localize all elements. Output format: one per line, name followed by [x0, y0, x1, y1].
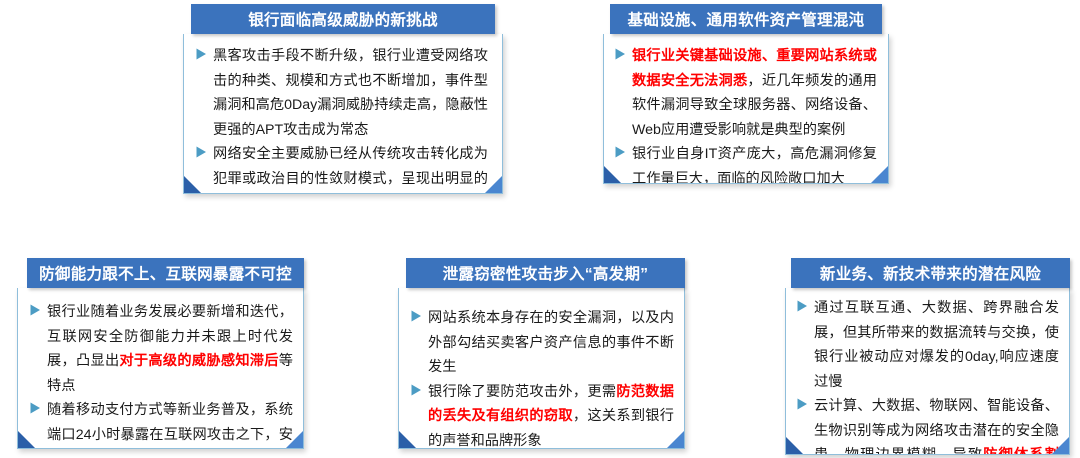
card-title-new-business-tech-risks: 新业务、新技术带来的潜在风险 — [791, 258, 1070, 288]
card-new-business-tech-risks: 新业务、新技术带来的潜在风险 通过互联互通、大数据、跨界融合发展，但其所带来的数… — [785, 258, 1070, 455]
right-arrow-icon — [196, 146, 208, 160]
bullet-text: 银行除了要防范攻击外，更需防范数据的丢失及有组织的窃取，这关系到银行的声誉和品牌… — [428, 384, 674, 449]
bullet-text: 随着移动支付方式等新业务普及，系统端口24小时暴露在互联网攻击之下，安全威胁在不… — [47, 402, 293, 449]
card-defense-internet-exposure: 防御能力跟不上、互联网暴露不可控 银行业随着业务发展必要新增和迭代，互联网安全防… — [17, 258, 304, 449]
list-item: 黑客攻击手段不断升级，银行业遭受网络攻击的种类、规模和方式也不断增加，事件型漏洞… — [196, 44, 488, 142]
corner-accent-bottom-left — [399, 431, 416, 448]
list-item: 银行业关键基础设施、重要网站系统或数据安全无法洞悉，近几年频发的通用软件漏洞导致… — [615, 44, 877, 142]
corner-accent-bottom-left — [184, 176, 201, 193]
corner-accent-bottom-right — [667, 431, 684, 448]
corner-accent-bottom-right — [485, 176, 502, 193]
corner-accent-bottom-left — [786, 437, 803, 454]
card-title-leak-espionage-attacks: 泄露窃密性攻击步入“高发期” — [406, 258, 685, 288]
right-arrow-icon — [411, 384, 423, 398]
right-arrow-icon — [797, 300, 809, 314]
card-infrastructure-asset-chaos: 基础设施、通用软件资产管理混沌 银行业关键基础设施、重要网站系统或数据安全无法洞… — [603, 4, 889, 184]
corner-accent-bottom-left — [18, 431, 35, 448]
card-body-new-business-tech-risks: 通过互联互通、大数据、跨界融合发展，但其所带来的数据流转与交换，使银行业被动应对… — [785, 288, 1070, 455]
right-arrow-icon — [797, 398, 809, 412]
right-arrow-icon — [615, 48, 627, 62]
corner-accent-bottom-right — [1052, 437, 1069, 454]
list-item: 随着移动支付方式等新业务普及，系统端口24小时暴露在互联网攻击之下，安全威胁在不… — [30, 398, 293, 449]
bullet-list: 银行业随着业务发展必要新增和迭代，互联网安全防御能力并未跟上时代发展，凸显出对于… — [30, 300, 293, 449]
right-arrow-icon — [411, 310, 423, 324]
bullet-list: 网站系统本身存在的安全漏洞，以及内外部勾结买卖客户资产信息的事件不断发生 银行除… — [411, 306, 674, 449]
corner-accent-bottom-left — [604, 166, 621, 183]
bullet-list: 通过互联互通、大数据、跨界融合发展，但其所带来的数据流转与交换，使银行业被动应对… — [797, 296, 1059, 455]
right-arrow-icon — [30, 402, 42, 416]
bullet-text: 云计算、大数据、物联网、智能设备、生物识别等成为网络攻击潜在的安全隐患，物理边界… — [814, 398, 1059, 455]
bullet-text: 银行业随着业务发展必要新增和迭代，互联网安全防御能力并未跟上时代发展，凸显出对于… — [47, 304, 293, 394]
card-body-bank-advanced-threats: 黑客攻击手段不断升级，银行业遭受网络攻击的种类、规模和方式也不断增加，事件型漏洞… — [183, 34, 503, 194]
card-body-infrastructure-asset-chaos: 银行业关键基础设施、重要网站系统或数据安全无法洞悉，近几年频发的通用软件漏洞导致… — [603, 34, 889, 184]
list-item: 网站系统本身存在的安全漏洞，以及内外部勾结买卖客户资产信息的事件不断发生 — [411, 306, 674, 380]
card-title-bank-advanced-threats: 银行面临高级威胁的新挑战 — [191, 4, 495, 34]
card-title-defense-internet-exposure: 防御能力跟不上、互联网暴露不可控 — [27, 258, 304, 288]
bullet-text: 银行业关键基础设施、重要网站系统或数据安全无法洞悉，近几年频发的通用软件漏洞导致… — [632, 48, 877, 138]
bullet-text: 网络安全主要威胁已经从传统攻击转化成为犯罪或政治目的性敛财模式，呈现出明显的规模… — [213, 146, 488, 194]
bullet-list: 黑客攻击手段不断升级，银行业遭受网络攻击的种类、规模和方式也不断增加，事件型漏洞… — [196, 44, 488, 194]
list-item: 网络安全主要威胁已经从传统攻击转化成为犯罪或政治目的性敛财模式，呈现出明显的规模… — [196, 142, 488, 194]
bullet-list: 银行业关键基础设施、重要网站系统或数据安全无法洞悉，近几年频发的通用软件漏洞导致… — [615, 44, 877, 184]
corner-accent-bottom-right — [871, 166, 888, 183]
list-item: 通过互联互通、大数据、跨界融合发展，但其所带来的数据流转与交换，使银行业被动应对… — [797, 296, 1059, 394]
highlight-text: 对于高级的威胁感知滞后 — [119, 353, 278, 369]
bullet-text: 通过互联互通、大数据、跨界融合发展，但其所带来的数据流转与交换，使银行业被动应对… — [814, 300, 1059, 390]
card-bank-advanced-threats: 银行面临高级威胁的新挑战 黑客攻击手段不断升级，银行业遭受网络攻击的种类、规模和… — [183, 4, 503, 194]
card-leak-espionage-attacks: 泄露窃密性攻击步入“高发期” 网站系统本身存在的安全漏洞，以及内外部勾结买卖客户… — [398, 258, 685, 449]
slide-board: 银行面临高级威胁的新挑战 黑客攻击手段不断升级，银行业遭受网络攻击的种类、规模和… — [0, 0, 1080, 458]
list-item: 云计算、大数据、物联网、智能设备、生物识别等成为网络攻击潜在的安全隐患，物理边界… — [797, 394, 1059, 455]
corner-accent-bottom-right — [286, 431, 303, 448]
list-item: 银行业随着业务发展必要新增和迭代，互联网安全防御能力并未跟上时代发展，凸显出对于… — [30, 300, 293, 398]
list-item: 银行除了要防范攻击外，更需防范数据的丢失及有组织的窃取，这关系到银行的声誉和品牌… — [411, 380, 674, 450]
bullet-text: 网站系统本身存在的安全漏洞，以及内外部勾结买卖客户资产信息的事件不断发生 — [428, 310, 674, 375]
card-body-leak-espionage-attacks: 网站系统本身存在的安全漏洞，以及内外部勾结买卖客户资产信息的事件不断发生 银行除… — [398, 288, 685, 449]
right-arrow-icon — [30, 304, 42, 318]
right-arrow-icon — [615, 146, 627, 160]
bullet-text: 黑客攻击手段不断升级，银行业遭受网络攻击的种类、规模和方式也不断增加，事件型漏洞… — [213, 48, 488, 138]
card-body-defense-internet-exposure: 银行业随着业务发展必要新增和迭代，互联网安全防御能力并未跟上时代发展，凸显出对于… — [17, 288, 304, 449]
card-title-infrastructure-asset-chaos: 基础设施、通用软件资产管理混沌 — [610, 4, 882, 34]
list-item: 银行业自身IT资产庞大，高危漏洞修复工作量巨大，面临的风险敞口加大 — [615, 142, 877, 184]
right-arrow-icon — [196, 48, 208, 62]
bullet-text: 银行业自身IT资产庞大，高危漏洞修复工作量巨大，面临的风险敞口加大 — [632, 146, 877, 184]
